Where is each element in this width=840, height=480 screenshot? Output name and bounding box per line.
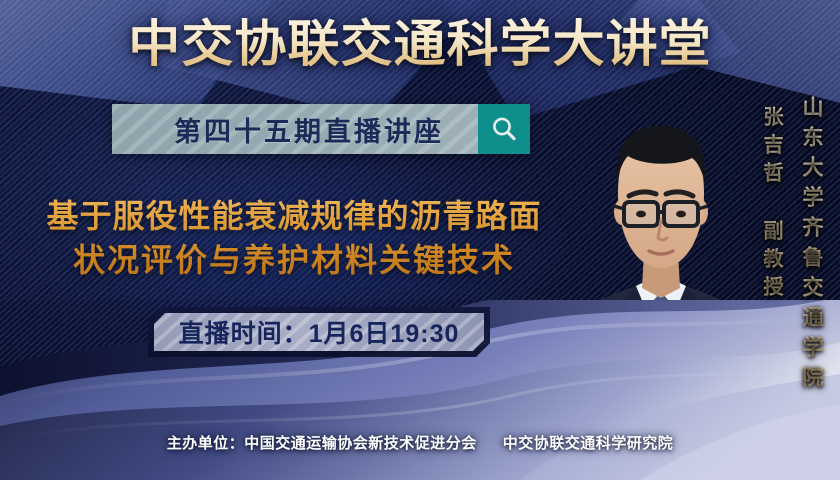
speaker-info: 张吉哲 副教授 山东大学齐鲁交通学院 (757, 96, 826, 396)
footer-organizers: 主办单位：中国交通运输协会新技术促进分会中交协联交通科学研究院 (0, 432, 840, 453)
broadcast-time-inner: 直播时间：1月6日19:30 (154, 313, 484, 351)
speaker-organization: 山东大学齐鲁交通学院 (796, 96, 826, 396)
speaker-name-and-title: 张吉哲 副教授 (757, 106, 786, 304)
footer-org-2: 中交协联交通科学研究院 (503, 435, 674, 452)
search-icon (489, 114, 519, 144)
broadcast-time-text: 直播时间：1月6日19:30 (179, 314, 460, 350)
episode-field[interactable]: 第四十五期直播讲座 (112, 104, 478, 154)
lecture-title: 基于服役性能衰减规律的沥青路面 状况评价与养护材料关键技术 (24, 194, 564, 282)
episode-search-bar[interactable]: 第四十五期直播讲座 (112, 104, 530, 154)
live-lecture-poster: 中交协联交通科学大讲堂 第四十五期直播讲座 基于服役性能衰减规律的沥青路面 状况… (0, 0, 840, 480)
lecture-title-line-2: 状况评价与养护材料关键技术 (24, 238, 564, 282)
lecture-title-line-1: 基于服役性能衰减规律的沥青路面 (24, 194, 564, 238)
broadcast-time-badge: 直播时间：1月6日19:30 (148, 307, 490, 357)
footer-org-1: 中国交通运输协会新技术促进分会 (244, 435, 477, 452)
search-button[interactable] (478, 104, 530, 154)
footer-prefix: 主办单位： (167, 435, 245, 452)
episode-label: 第四十五期直播讲座 (146, 110, 444, 149)
page-title: 中交协联交通科学大讲堂 (0, 12, 840, 76)
